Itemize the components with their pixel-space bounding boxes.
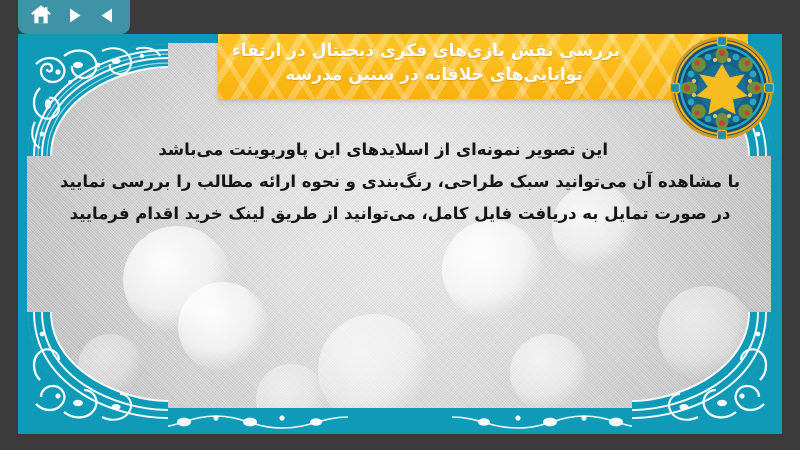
frame-edge-bottom	[18, 408, 782, 434]
presentation-viewer: بررسی نقش بازی‌های فکری دیجیتال در ارتقا…	[0, 0, 800, 450]
slide-title-banner: بررسی نقش بازی‌های فکری دیجیتال در ارتقا…	[218, 34, 748, 99]
frame-edge-left	[18, 34, 27, 434]
left-triangle-icon	[98, 6, 117, 25]
title-line-2: توانایی‌های خلاقانه در سنین مدرسه	[232, 63, 636, 87]
home-icon	[30, 5, 52, 25]
navigation-bar	[18, 0, 130, 34]
home-button[interactable]	[28, 3, 54, 27]
slide-title: بررسی نقش بازی‌های فکری دیجیتال در ارتقا…	[218, 34, 748, 99]
next-slide-button[interactable]	[61, 3, 87, 27]
previous-slide-button[interactable]	[94, 3, 120, 27]
right-triangle-icon	[65, 6, 84, 25]
body-line-2: با مشاهده آن می‌توانید سبک طراحی، رنگ‌بن…	[44, 166, 756, 198]
title-line-1: بررسی نقش بازی‌های فکری دیجیتال در ارتقا…	[232, 39, 620, 63]
body-line-1: این تصویر نمونه‌ای از اسلایدهای این پاور…	[44, 134, 756, 166]
slide-body-text: این تصویر نمونه‌ای از اسلایدهای این پاور…	[44, 134, 756, 230]
persian-medallion-ornament	[670, 36, 774, 140]
slide-canvas: بررسی نقش بازی‌های فکری دیجیتال در ارتقا…	[18, 34, 782, 434]
body-line-3: در صورت تمایل به دریافت فایل کامل، می‌تو…	[44, 198, 756, 230]
